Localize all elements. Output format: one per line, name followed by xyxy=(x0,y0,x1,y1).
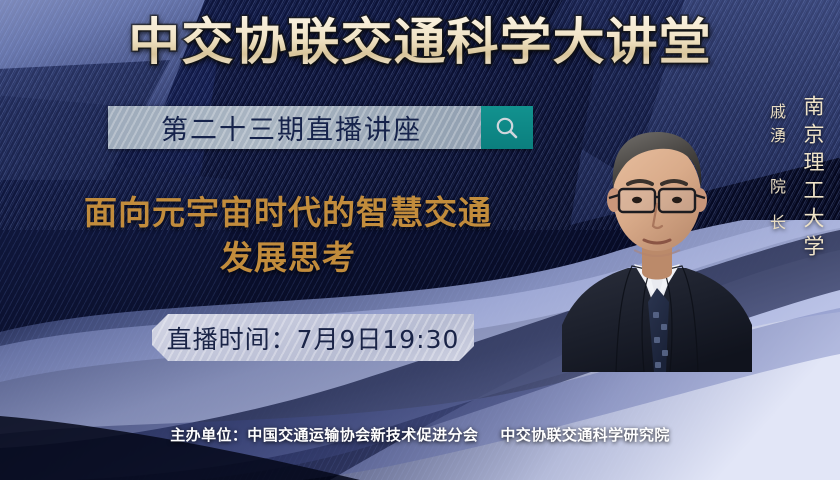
search-icon-glyph xyxy=(494,115,520,141)
speaker-name-role: 戚湧 院长 xyxy=(764,103,788,250)
footer-prefix: 主办单位： xyxy=(170,426,247,444)
footer-org-2: 中交协联交通科学研究院 xyxy=(500,426,669,444)
footer-org-1: 中国交通运输协会新技术促进分会 xyxy=(247,426,478,444)
episode-label: 第二十三期直播讲座 xyxy=(108,108,481,147)
footer: 主办单位：中国交通运输协会新技术促进分会中交协联交通科学研究院 xyxy=(0,424,840,445)
speaker-affiliation: 南京理工大学 xyxy=(798,95,828,263)
speaker-name: 戚湧 xyxy=(767,103,786,151)
speaker-portrait xyxy=(562,92,752,372)
speaker-role: 院长 xyxy=(767,178,786,250)
live-lecture-poster: 中交协联交通科学大讲堂 中交协联交通科学大讲堂 第二十三期直播讲座 面向元宇宙时… xyxy=(0,0,840,480)
episode-bar: 第二十三期直播讲座 xyxy=(108,106,533,149)
lecture-title-line1: 面向元宇宙时代的智慧交通 xyxy=(84,193,492,232)
search-icon[interactable] xyxy=(481,106,533,149)
lecture-title: 面向元宇宙时代的智慧交通 发展思考 xyxy=(28,190,548,280)
schedule-badge: 直播时间：7月9日19:30 xyxy=(152,314,474,361)
main-title: 中交协联交通科学大讲堂 xyxy=(0,14,840,70)
schedule-label: 直播时间：7月9日19:30 xyxy=(167,320,460,356)
lecture-title-line2: 发展思考 xyxy=(28,235,548,280)
